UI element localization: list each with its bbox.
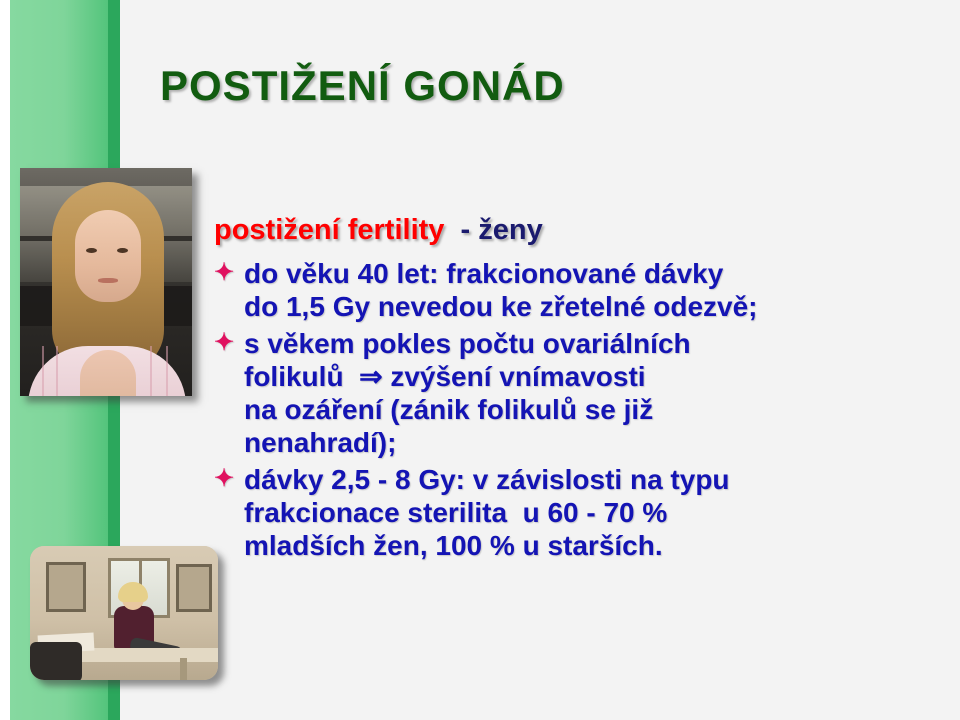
star-icon: ✦ <box>214 328 234 358</box>
subheading-rest: - ženy <box>444 214 542 246</box>
star-icon: ✦ <box>214 258 234 288</box>
subheading: postižení fertility - ženy <box>214 214 914 247</box>
list-item-line: do 1,5 Gy nevedou ke zřetelné odezvě; <box>244 290 914 323</box>
desk-picture-frame-right <box>176 564 212 612</box>
portrait-eye-left <box>86 248 97 253</box>
desk-photo <box>30 546 218 680</box>
list-item-line: nenahradí); <box>244 426 914 459</box>
list-item-line: do věku 40 let: frakcionované dávky <box>244 257 914 290</box>
list-item-line: mladších žen, 100 % u starších. <box>244 529 914 562</box>
slide: POSTIŽENÍ GONÁD postižení fertility - <box>0 0 960 720</box>
portrait-shirt-stripe <box>166 346 168 396</box>
content-block: postižení fertility - ženy ✦ do věku 40 … <box>214 214 914 566</box>
portrait-shirt-stripe <box>42 346 44 396</box>
list-item-line: s věkem pokles počtu ovariálních <box>244 327 914 360</box>
left-white-margin <box>0 0 10 720</box>
portrait-eye-right <box>117 248 128 253</box>
desk-chair <box>30 642 82 680</box>
desk-picture-frame-left <box>46 562 86 612</box>
portrait-photo <box>20 168 192 396</box>
list-item: ✦ do věku 40 let: frakcionované dávky do… <box>214 257 914 323</box>
list-item-line: dávky 2,5 - 8 Gy: v závislosti na typu <box>244 463 914 496</box>
portrait-face <box>75 210 141 302</box>
list-item: ✦ dávky 2,5 - 8 Gy: v závislosti na typu… <box>214 463 914 562</box>
list-item-line: folikulů ⇒ zvýšení vnímavosti <box>244 360 914 393</box>
list-item: ✦ s věkem pokles počtu ovariálních folik… <box>214 327 914 459</box>
portrait-shirt-stripe <box>150 346 152 396</box>
portrait-mouth <box>98 278 118 283</box>
desk-table-leg <box>180 658 187 680</box>
portrait-shirt-stripe <box>56 346 58 396</box>
page-title: POSTIŽENÍ GONÁD <box>160 62 900 110</box>
list-item-line: frakcionace sterilita u 60 - 70 % <box>244 496 914 529</box>
list-item-line: na ozáření (zánik folikulů se již <box>244 393 914 426</box>
bullet-list: ✦ do věku 40 let: frakcionované dávky do… <box>214 257 914 562</box>
star-icon: ✦ <box>214 464 234 494</box>
subheading-main: postižení fertility <box>214 214 444 246</box>
